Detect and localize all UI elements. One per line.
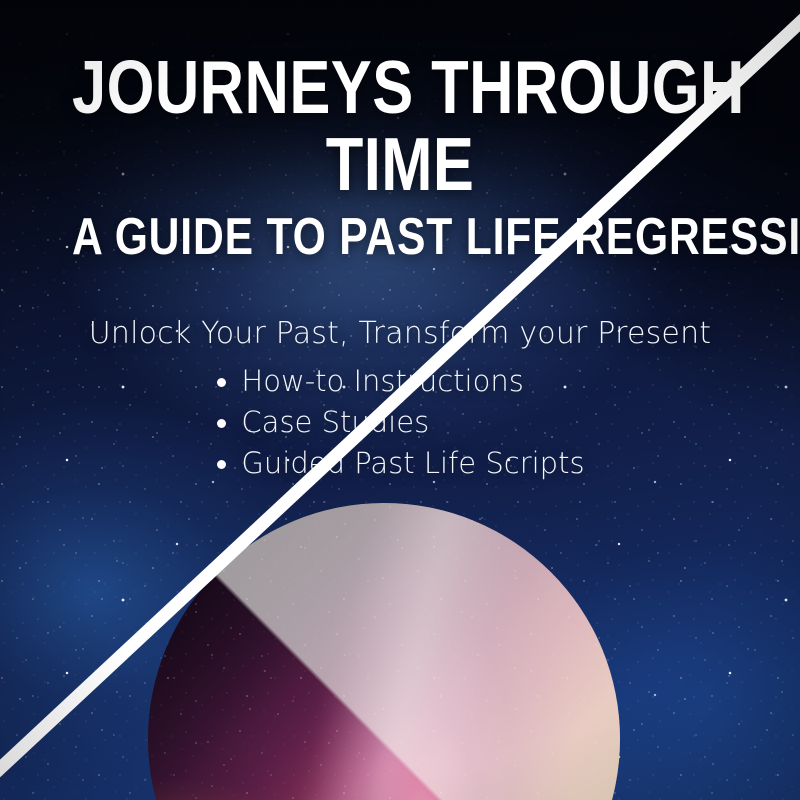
headline-block: Journeys Through Time A Guide to Past Li… [0, 52, 800, 262]
feature-list: How-to Instructions Case Studies Guided … [215, 361, 584, 485]
galaxy-circle-image [148, 503, 620, 800]
subtitle-line: A Guide to Past Life Regression [72, 213, 728, 262]
poster-canvas: Journeys Through Time A Guide to Past Li… [0, 0, 800, 800]
light-wedge-overlay [148, 503, 620, 800]
tagline: Unlock Your Past, Transform your Present [0, 316, 800, 351]
title-line-1: Journeys Through [72, 52, 728, 123]
list-item: Case Studies [215, 402, 584, 443]
list-item: Guided Past Life Scripts [215, 443, 584, 484]
